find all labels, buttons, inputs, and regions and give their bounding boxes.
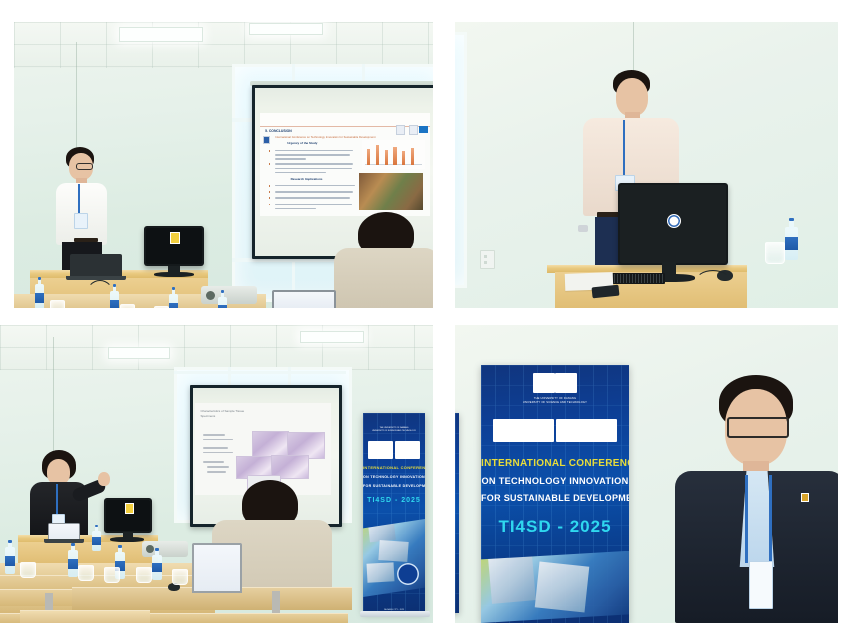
- banner-university-name: THE UNIVERSITY OF DANANG UNIVERSITY OF S…: [481, 397, 629, 405]
- glasses-icon: [76, 163, 93, 170]
- drinking-glass: [136, 567, 152, 583]
- slide-bullet-line: [275, 158, 306, 159]
- presenter-laptop-base[interactable]: [44, 539, 84, 543]
- drinking-glass: [172, 569, 188, 585]
- banner-photo-montage: [363, 519, 425, 597]
- slide-text-line: [203, 434, 225, 436]
- banner-sponsor-box-right: [556, 419, 617, 442]
- chart-bar: [385, 150, 388, 164]
- banner-photo-montage: [481, 551, 629, 623]
- banner-headline-2: ON TECHNOLOGY INNOVATION: [363, 475, 425, 479]
- slide-bar-chart: [362, 140, 425, 169]
- slide-bullet-line: [275, 172, 326, 173]
- ceiling-grid: [0, 325, 433, 370]
- cable: [695, 270, 731, 294]
- slide-title: 5. CONCLUSION: [265, 129, 292, 133]
- drinking-glass: [78, 565, 94, 581]
- drinking-glass: [120, 304, 135, 308]
- banner-sponsor-logos: [368, 441, 420, 459]
- attendee-laptop-lid[interactable]: [272, 290, 336, 308]
- slide-bullet-line: [275, 197, 350, 198]
- seated-attendee: [334, 212, 433, 308]
- bench-leg: [272, 591, 280, 615]
- monitor-base: [154, 272, 194, 277]
- banner-univ-line-2: UNIVERSITY OF SCIENCE AND TECHNOLOGY: [372, 430, 416, 432]
- slide-section-2: Research Implications: [291, 177, 323, 181]
- slide-text-line: [203, 447, 227, 449]
- slide-bullet-line: [275, 191, 353, 192]
- slide-bullet-marker: [269, 204, 271, 206]
- banner-photo: [535, 561, 590, 612]
- dut-sticker-icon: [170, 232, 180, 244]
- slide-bullet-marker: [269, 191, 271, 193]
- ceiling-light: [108, 347, 170, 359]
- banner-event-code: TI4SD - 2025: [363, 497, 425, 504]
- slide-text-line: [207, 466, 229, 468]
- banner-sponsor-box-left: [493, 419, 554, 442]
- roll-up-banner: THE UNIVERSITY OF DANANG UNIVERSITY OF S…: [481, 365, 629, 623]
- banner-stand: [360, 611, 430, 617]
- window-edge: [455, 32, 467, 288]
- dut-sticker-icon: [125, 503, 134, 514]
- ceiling-light: [300, 331, 364, 343]
- drinking-glass: [50, 300, 65, 308]
- slide-photo: [359, 173, 424, 210]
- slide-bullet-marker: [269, 197, 271, 199]
- lanyard: [769, 475, 772, 563]
- presenter-table-skirt: [18, 542, 158, 564]
- drinking-glass: [20, 562, 36, 578]
- lanyard: [623, 120, 625, 178]
- attendee-laptop-lid[interactable]: [192, 543, 242, 593]
- speaker-in-suit: [675, 375, 838, 623]
- water-bottle: [218, 290, 227, 308]
- slide-bullet-marker: [269, 185, 271, 187]
- lapel-pin-icon: [801, 493, 809, 502]
- presenter-laptop-lid[interactable]: [70, 254, 122, 278]
- banner-sponsor-logos: [493, 419, 617, 442]
- banner-dut-logo: [533, 373, 555, 394]
- drinking-glass: [154, 306, 169, 308]
- banner-univ-line-1: THE UNIVERSITY OF DANANG: [534, 397, 576, 400]
- water-bottle: [68, 543, 78, 577]
- ceiling-light: [249, 23, 323, 35]
- slide-bullet-line: [275, 204, 352, 205]
- projected-slide: International Conference on Technology I…: [260, 113, 430, 216]
- drinking-glass: [104, 567, 120, 583]
- slide-text-line: [203, 452, 233, 454]
- banner-university-name: THE UNIVERSITY OF DANANG UNIVERSITY OF S…: [363, 427, 425, 432]
- drinking-glass: [765, 242, 785, 264]
- water-bottle: [110, 284, 119, 308]
- wristwatch: [578, 225, 588, 232]
- chart-bar: [402, 151, 405, 165]
- monitor-base: [110, 537, 144, 542]
- water-bottle: [785, 218, 798, 260]
- banner-photo: [378, 540, 408, 562]
- beige-jacket: [334, 248, 433, 308]
- banner-headline-3: FOR SUSTAINABLE DEVELOPMENT: [363, 484, 425, 488]
- belt: [74, 238, 98, 242]
- slide-bullet-marker: [269, 163, 271, 165]
- banner-headline-1: INTERNATIONAL CONFERENCE: [363, 465, 425, 470]
- slide-header-text: International Conference on Technology I…: [275, 136, 375, 139]
- hand: [98, 472, 110, 486]
- keyboard-keys: [608, 274, 664, 283]
- chart-bar: [411, 148, 414, 165]
- slide-section-1: Urgency of the Study: [287, 141, 317, 145]
- banner-photo: [366, 562, 394, 582]
- slide-bullet-line: [275, 168, 352, 169]
- slide-bullet-marker: [269, 150, 271, 152]
- banner-photo: [488, 555, 536, 603]
- chart-bar: [367, 149, 370, 165]
- slide-brand-logo: [419, 126, 428, 133]
- slide-sponsor-logo: [396, 125, 405, 135]
- glasses-icon[interactable]: [727, 417, 789, 438]
- banner-circuit-pattern: [455, 413, 459, 613]
- projector-lens: [206, 291, 215, 300]
- keyboard[interactable]: [607, 273, 665, 284]
- panel-bottom-left: Characteristics of Sample Tissue Specime…: [0, 325, 433, 623]
- lanyard: [745, 475, 748, 563]
- water-bottle: [5, 540, 15, 574]
- chart-bar: [376, 145, 379, 165]
- slide-header-bar: [260, 113, 430, 127]
- attendee-laptop-screen: [194, 545, 240, 591]
- banner-seal-emblem: [397, 563, 419, 585]
- attendee-laptop-screen: [274, 292, 334, 308]
- banner-univ-line-2: UNIVERSITY OF SCIENCE AND TECHNOLOGY: [523, 401, 587, 404]
- banner-dut-logos: [533, 373, 577, 394]
- slide-logo: [263, 136, 270, 144]
- slide-text-line: [207, 471, 226, 473]
- window-mullion: [174, 371, 346, 374]
- lanyard: [56, 484, 58, 514]
- water-bottle: [169, 287, 178, 308]
- slide-sponsor-logo: [409, 125, 418, 135]
- banner-headline-3: FOR SUSTAINABLE DEVELOPMENT: [481, 493, 629, 503]
- slide-bullet-line: [275, 208, 316, 209]
- water-bottle: [152, 548, 162, 580]
- slide-bullet-line: [275, 154, 350, 155]
- photo-collage: International Conference on Technology I…: [0, 0, 850, 638]
- slide-text-line: [203, 461, 223, 463]
- banner-sponsor-box-left: [368, 441, 394, 459]
- blue-circle-sticker-icon: [667, 214, 681, 228]
- ceiling-light: [119, 27, 203, 42]
- banner-headline-2: ON TECHNOLOGY INNOVATION: [481, 476, 629, 486]
- slide-bullet-line: [275, 150, 353, 151]
- roll-up-banner: THE UNIVERSITY OF DANANG UNIVERSITY OF S…: [363, 413, 425, 613]
- panel-bottom-right: THE UNIVERSITY OF DANANG UNIVERSITY OF S…: [455, 325, 838, 623]
- name-badge: [749, 561, 773, 609]
- slide-bullet-line: [275, 185, 355, 186]
- lecture-bench: [20, 610, 150, 623]
- lanyard: [78, 184, 80, 214]
- panel-top-left: International Conference on Technology I…: [14, 22, 433, 308]
- slide-bullet-line: [275, 163, 353, 164]
- banner-sponsor-box-right: [395, 441, 421, 459]
- name-badge: [74, 213, 88, 229]
- banner-s-logo: [555, 373, 577, 394]
- chart-bar: [393, 147, 396, 165]
- slide-text-line: [203, 439, 233, 441]
- banner-event-code: TI4SD - 2025: [481, 517, 629, 537]
- water-bottle: [92, 525, 101, 551]
- banner-headline-1: INTERNATIONAL CONFERENCE: [481, 458, 629, 469]
- water-bottle: [35, 277, 44, 308]
- roll-up-banner-partial: [455, 413, 459, 613]
- panel-top-right: [455, 22, 838, 308]
- wall-socket: [480, 250, 495, 269]
- slide-title: Characteristics of Sample Tissue Specime…: [200, 409, 246, 418]
- head: [616, 78, 648, 116]
